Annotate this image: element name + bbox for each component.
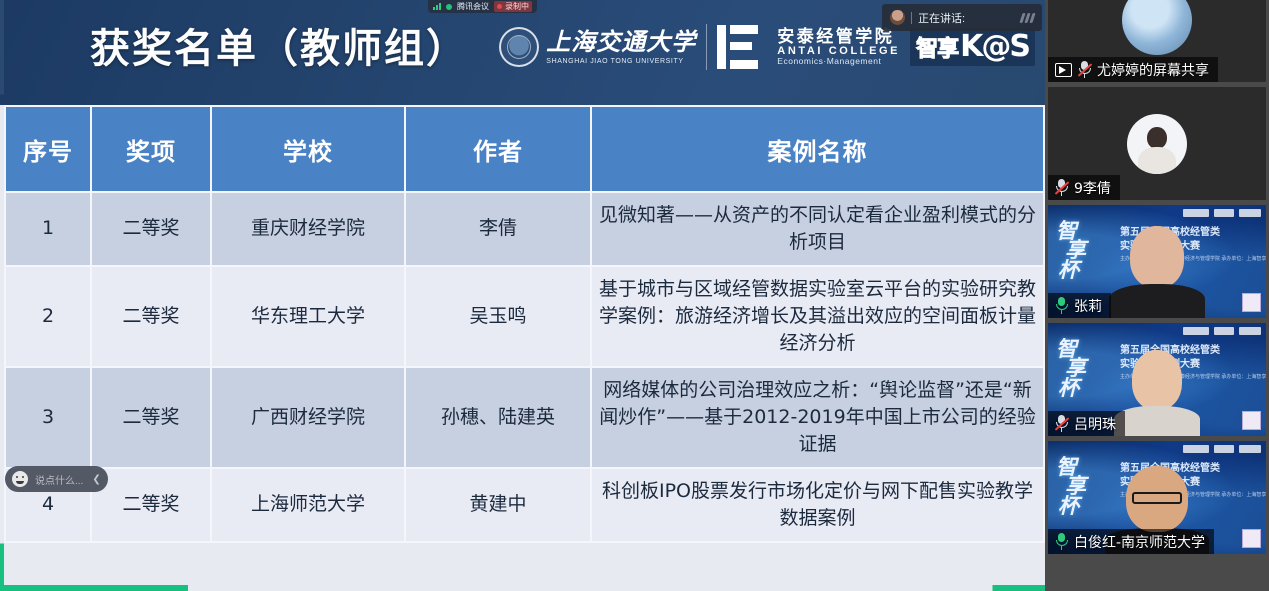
tile-name-bar: 吕明珠 [1048,411,1125,436]
chat-input[interactable]: 说点什么... [35,472,83,487]
cell-author: 吴玉鸣 [405,266,591,367]
sjtu-name-en: SHANGHAI JIAO TONG UNIVERSITY [546,58,696,65]
cell-case: 网络媒体的公司治理效应之析：“舆论监督”还是“新闻炒作”——基于2012-201… [591,367,1044,468]
cell-author: 孙穗、陆建英 [405,367,591,468]
video-tile-participant[interactable]: 9李倩 [1048,87,1266,200]
cup-char-3: 杯 [1058,496,1085,515]
tile-name-bar: 白俊红-南京师范大学 [1048,529,1214,554]
antai-name-cn: 安泰经管学院 [777,28,900,46]
mic-on-icon [1055,533,1068,550]
cup-char-3: 杯 [1058,260,1085,279]
antai-mini-logo-icon [1214,445,1234,453]
audio-wave-icon [1021,13,1034,23]
sjtu-name-cn: 上海交通大学 [546,30,696,54]
cell-award: 二等奖 [91,192,211,266]
cup-char-3: 杯 [1058,378,1085,397]
cell-award: 二等奖 [91,266,211,367]
cell-author: 黄建中 [405,468,591,542]
speaking-label: 正在讲话: [918,10,965,26]
slide-logo-row [1183,327,1261,335]
cell-no: 3 [5,367,91,468]
signal-strength-icon [433,3,441,10]
qr-code-icon [1242,529,1261,548]
meeting-window: 获奖名单（教师组） 上海交通大学 SHANGHAI JIAO TONG UNIV… [0,0,1269,591]
recording-badge: 录制中 [494,1,532,12]
video-tile-participant[interactable]: 智 享 杯 第五届全国高校经管类 实验教学案例大赛 主办单位：上海交通大学安泰经… [1048,205,1266,318]
cell-no: 2 [5,266,91,367]
cell-school: 华东理工大学 [211,266,405,367]
app-name-label: 腾讯会议 [457,1,489,12]
sjtu-logo: 上海交通大学 SHANGHAI JIAO TONG UNIVERSITY [499,27,696,67]
cell-case: 基于城市与区域经管数据实验室云平台的实验研究教学案例：旅游经济增长及其溢出效应的… [591,266,1044,367]
participant-name: 吕明珠 [1074,414,1116,434]
kas-name-en: K@S [960,32,1029,62]
participant-video-sidebar[interactable]: 尤婷婷的屏幕共享 9李倩 [1045,0,1269,591]
slide-logo-row [1183,209,1261,217]
column-header-school: 学校 [211,106,405,192]
kas-mini-logo-icon [1239,445,1261,453]
cell-school: 重庆财经学院 [211,192,405,266]
screen-share-border-left [0,0,4,591]
participant-figure [1109,226,1205,318]
tile-name-bar: 张莉 [1048,293,1111,318]
cell-case: 科创板IPO股票发行市场化定价与网下配售实验教学数据案例 [591,468,1044,542]
cell-award: 二等奖 [91,367,211,468]
participant-figure [1114,350,1200,436]
mic-muted-icon [1078,61,1091,78]
mic-on-icon [1055,297,1068,314]
recording-label: 录制中 [505,1,529,12]
sjtu-seal-icon [499,27,539,67]
speaking-indicator: 正在讲话: [882,4,1042,31]
cell-school: 广西财经学院 [211,367,405,468]
kas-logo: 智享 K@S [910,28,1035,66]
table-row: 3 二等奖 广西财经学院 孙穗、陆建英 网络媒体的公司治理效应之析：“舆论监督”… [5,367,1044,468]
sjtu-mini-logo-icon [1183,209,1209,217]
page-title: 获奖名单（教师组） [90,16,468,74]
table-row: 2 二等奖 华东理工大学 吴玉鸣 基于城市与区域经管数据实验室云平台的实验研究教… [5,266,1044,367]
mic-muted-icon [1055,179,1068,196]
cell-case: 见微知著——从资产的不同认定看企业盈利模式的分析项目 [591,192,1044,266]
kas-name-cn: 智享 [916,31,958,63]
meeting-status-chip[interactable]: 腾讯会议 录制中 [428,0,537,13]
logo-divider [706,24,707,70]
cell-author: 李倩 [405,192,591,266]
cell-school: 上海师范大学 [211,468,405,542]
antai-mini-logo-icon [1214,327,1234,335]
chat-input-widget[interactable]: 说点什么... ❮ [5,466,108,492]
cell-award: 二等奖 [91,468,211,542]
record-dot-icon [497,4,502,9]
video-tile-participant[interactable]: 智 享 杯 第五届全国高校经管类 实验教学案例大赛 主办单位：上海交通大学安泰经… [1048,441,1266,554]
screen-share-border-bottom [0,585,1045,591]
emoji-icon[interactable] [12,471,28,487]
sjtu-mini-logo-icon [1183,445,1209,453]
antai-name-en2: Economics·Management [777,57,900,66]
participant-name: 张莉 [1074,296,1102,316]
divider [911,12,912,24]
connection-dot-icon [446,4,452,10]
participant-name: 白俊红-南京师范大学 [1074,532,1205,552]
table-row: 1 二等奖 重庆财经学院 李倩 见微知著——从资产的不同认定看企业盈利模式的分析… [5,192,1044,266]
screen-share-icon [1055,63,1072,77]
avatar [1122,0,1192,55]
event-logo-text: 智 享 杯 [1056,221,1085,279]
column-header-author: 作者 [405,106,591,192]
event-logo-text: 智 享 杯 [1056,457,1085,515]
kas-mini-logo-icon [1239,327,1261,335]
participant-name: 9李倩 [1074,178,1111,198]
tile-name-bar: 9李倩 [1048,175,1120,200]
table-row: 4 二等奖 上海师范大学 黄建中 科创板IPO股票发行市场化定价与网下配售实验教… [5,468,1044,542]
column-header-no: 序号 [5,106,91,192]
avatar [1127,114,1187,174]
column-header-award: 奖项 [91,106,211,192]
antai-logo: 安泰经管学院 ANTAI COLLEGE Economics·Managemen… [717,25,900,69]
chevron-left-icon[interactable]: ❮ [92,474,100,485]
tile-name-bar: 尤婷婷的屏幕共享 [1048,57,1218,82]
acem-mark-icon [717,25,769,69]
cell-no: 1 [5,192,91,266]
award-list-table: 序号 奖项 学校 作者 案例名称 1 二等奖 重庆财经学院 李倩 见微知著——从… [4,105,1045,543]
qr-code-icon [1242,293,1261,312]
video-tile-screen-share[interactable]: 尤婷婷的屏幕共享 [1048,0,1266,82]
mic-muted-icon [1055,415,1068,432]
slide-logo-row [1183,445,1261,453]
antai-mini-logo-icon [1214,209,1234,217]
shared-screen-area[interactable]: 获奖名单（教师组） 上海交通大学 SHANGHAI JIAO TONG UNIV… [0,0,1045,591]
column-header-case: 案例名称 [591,106,1044,192]
sjtu-mini-logo-icon [1183,327,1209,335]
video-tile-participant[interactable]: 智 享 杯 第五届全国高校经管类 实验教学案例大赛 主办单位：上海交通大学安泰经… [1048,323,1266,436]
event-logo-text: 智 享 杯 [1056,339,1085,397]
qr-code-icon [1242,411,1261,430]
speaker-avatar [890,10,905,25]
kas-mini-logo-icon [1239,209,1261,217]
participant-name: 尤婷婷的屏幕共享 [1097,60,1209,80]
table-header-row: 序号 奖项 学校 作者 案例名称 [5,106,1044,192]
